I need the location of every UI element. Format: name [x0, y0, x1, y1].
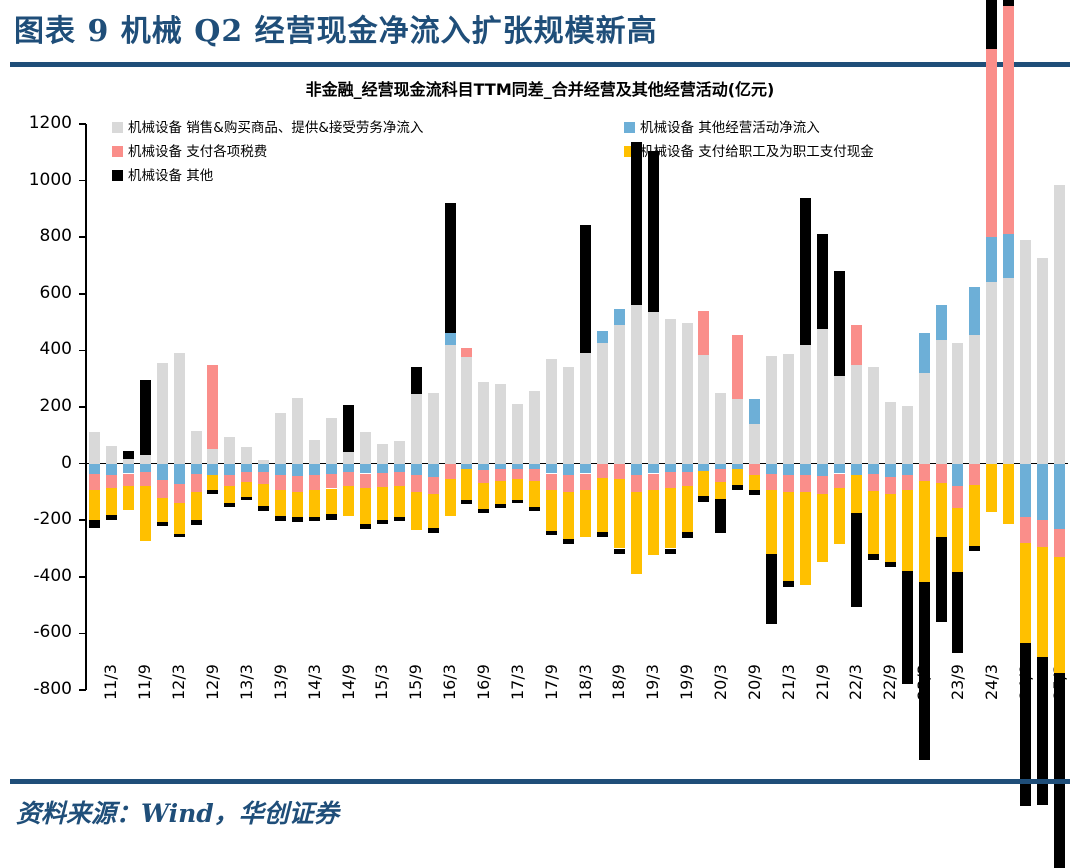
x-tick [823, 464, 824, 473]
bar-segment [648, 464, 659, 474]
bar-segment [766, 464, 777, 475]
bar-segment [1003, 464, 1014, 525]
bar-segment [783, 354, 794, 464]
bar-segment [732, 399, 743, 464]
bar-segment [936, 537, 947, 622]
x-axis-label: 23/9 [948, 664, 967, 700]
bar-segment [377, 473, 388, 487]
bar-segment [783, 581, 794, 587]
bar-segment [1037, 258, 1048, 464]
bar-segment [309, 517, 320, 522]
bar-segment [241, 464, 252, 472]
bar-segment [868, 491, 879, 555]
x-axis-label: 24/9 [1016, 664, 1035, 700]
x-tick [772, 464, 773, 473]
bar-segment [682, 464, 693, 472]
x-tick [111, 464, 112, 473]
x-axis-label: 24/3 [982, 664, 1001, 700]
x-axis-label: 23/3 [914, 664, 933, 700]
bar-segment [377, 444, 388, 463]
bar-segment [919, 464, 930, 482]
x-tick [467, 464, 468, 473]
bar-segment [885, 562, 896, 568]
bar-segment [969, 335, 980, 464]
footer-divider [10, 779, 1070, 784]
bar-segment [1020, 240, 1031, 464]
bar-segment [665, 549, 676, 554]
bar-segment [360, 464, 371, 474]
x-tick [755, 464, 756, 473]
x-axis-label: 15/3 [372, 664, 391, 700]
bar-segment [411, 475, 422, 491]
bar-segment [749, 424, 760, 464]
bar-segment [140, 472, 151, 486]
page-title: 图表 9 机械 Q2 经营现金净流入扩张规模新高 [14, 6, 658, 50]
y-tick [79, 633, 86, 635]
x-tick [162, 464, 163, 473]
bar-segment [275, 464, 286, 476]
x-tick [179, 464, 180, 473]
bar-segment [1020, 543, 1031, 643]
bar-segment [174, 464, 185, 484]
bar-segment [648, 312, 659, 463]
bar-segment [885, 464, 896, 478]
bar-segment [919, 582, 930, 760]
bar-segment [275, 490, 286, 516]
x-tick [1043, 464, 1044, 473]
y-axis-label: 200 [12, 396, 72, 416]
bar-segment [191, 431, 202, 464]
bar-segment [89, 432, 100, 464]
x-tick [365, 464, 366, 473]
x-tick [704, 464, 705, 473]
x-tick [569, 464, 570, 473]
y-axis-line [85, 124, 87, 690]
bar-segment [394, 441, 405, 464]
y-tick [79, 576, 86, 578]
bar-segment [936, 464, 947, 484]
x-tick [789, 464, 790, 473]
bar-segment [1020, 464, 1031, 518]
bar-segment [817, 464, 828, 477]
header-divider [10, 62, 1070, 67]
bar-segment [343, 452, 354, 463]
legend-swatch-wages [624, 146, 635, 157]
bar-segment [682, 323, 693, 464]
bar-segment [326, 514, 337, 520]
bar-segment [89, 464, 100, 475]
bar-segment [631, 464, 642, 475]
bar-segment [902, 571, 913, 684]
bar-segment [174, 484, 185, 503]
bar-segment [698, 471, 709, 496]
x-tick [873, 464, 874, 473]
bar-segment [986, 237, 997, 282]
x-tick [348, 464, 349, 473]
bar-segment [868, 464, 879, 475]
bar-segment [902, 475, 913, 491]
bar-segment [377, 520, 388, 524]
legend-item-other: 机械设备 其他 [112, 164, 213, 184]
bar-segment [851, 513, 862, 606]
bar-segment [902, 464, 913, 475]
x-tick [399, 464, 400, 473]
bar-segment [89, 520, 100, 527]
bar-segment [800, 492, 811, 585]
bar-segment [106, 446, 117, 464]
bar-segment [241, 497, 252, 500]
bar-segment [851, 464, 862, 475]
bar-segment [529, 481, 540, 506]
legend-item-taxes: 机械设备 支付各项税费 [112, 140, 267, 160]
x-tick [1060, 464, 1061, 473]
y-tick [79, 689, 86, 691]
legend-swatch-taxes [112, 146, 123, 157]
x-axis-label: 17/3 [508, 664, 527, 700]
bar-segment [445, 345, 456, 464]
bar-segment [1037, 520, 1048, 547]
bar-segment [478, 470, 489, 483]
bar-segment [461, 464, 472, 470]
x-axis-label: 21/3 [779, 664, 798, 700]
x-tick [450, 464, 451, 473]
bar-segment [292, 476, 303, 492]
legend-item-wages: 机械设备 支付给职工及为职工支付现金 [624, 140, 874, 160]
source-note: 资料来源：Wind，华创证券 [16, 794, 339, 830]
bar-segment [834, 488, 845, 545]
bar-segment [241, 447, 252, 464]
x-tick [416, 464, 417, 473]
bar-segment [665, 472, 676, 488]
bar-segment [428, 464, 439, 478]
x-tick [619, 464, 620, 473]
bar-segment [140, 486, 151, 541]
y-axis-label: -600 [12, 622, 72, 642]
legend-swatch-other [112, 170, 123, 181]
bar-segment [326, 489, 337, 514]
bar-segment [292, 398, 303, 464]
bar-segment [665, 319, 676, 464]
bar-segment [428, 393, 439, 464]
bar-segment [461, 469, 472, 500]
bar-segment [682, 472, 693, 486]
bar-segment [563, 367, 574, 463]
bar-segment [394, 486, 405, 517]
bar-segment [461, 348, 472, 358]
bar-segment [597, 464, 608, 479]
bar-segment [749, 490, 760, 494]
x-tick [721, 464, 722, 473]
bar-segment [597, 331, 608, 344]
bar-segment [834, 271, 845, 376]
y-axis-label: 1000 [12, 170, 72, 190]
bar-segment [631, 475, 642, 492]
bar-segment [783, 492, 794, 581]
bar-segment [936, 483, 947, 537]
x-axis-label: 17/9 [542, 664, 561, 700]
bar-segment [174, 503, 185, 534]
bar-segment [394, 517, 405, 522]
bar-segment [89, 474, 100, 490]
x-tick [145, 464, 146, 473]
bar-segment [563, 492, 574, 539]
bar-segment [461, 500, 472, 504]
bar-segment [597, 532, 608, 537]
x-axis-label: 13/9 [271, 664, 290, 700]
bar-segment [224, 503, 235, 507]
bar-segment [902, 490, 913, 571]
chart-title: 非金融_经营现金流科目TTM同差_合并经营及其他经营活动(亿元) [0, 76, 1080, 100]
bar-segment [546, 490, 557, 531]
bar-segment [461, 357, 472, 463]
bar-segment [428, 477, 439, 494]
bar-segment [360, 432, 371, 463]
bar-segment [580, 225, 591, 352]
bar-segment [207, 365, 218, 448]
bar-segment [157, 522, 168, 525]
bar-segment [800, 198, 811, 345]
bar-segment [563, 539, 574, 544]
bar-segment [834, 464, 845, 474]
bar-segment [224, 464, 235, 475]
bar-segment [478, 509, 489, 513]
bar-segment [309, 490, 320, 517]
y-axis-label: 400 [12, 339, 72, 359]
x-tick [975, 464, 976, 473]
bar-segment [377, 487, 388, 520]
y-tick [79, 350, 86, 352]
bar-segment [682, 486, 693, 533]
x-axis-label: 15/9 [406, 664, 425, 700]
x-tick [213, 464, 214, 473]
bar-segment [969, 287, 980, 335]
x-axis-label: 14/9 [339, 664, 358, 700]
bar-segment [529, 391, 540, 464]
x-axis-label: 22/9 [880, 664, 899, 700]
bar-segment [512, 469, 523, 480]
x-tick [602, 464, 603, 473]
bar-segment [546, 359, 557, 464]
bar-segment [986, 464, 997, 512]
bar-segment [563, 475, 574, 492]
bar-segment [631, 492, 642, 574]
bar-segment [885, 477, 896, 494]
bar-segment [529, 507, 540, 511]
x-tick [535, 464, 536, 473]
x-tick [1009, 464, 1010, 473]
legend-swatch-other_op [624, 122, 635, 133]
y-axis-label: -400 [12, 566, 72, 586]
bar-segment [732, 469, 743, 485]
bar-segment [495, 469, 506, 480]
x-axis-label: 21/9 [813, 664, 832, 700]
bar-segment [952, 464, 963, 486]
bar-segment [698, 355, 709, 464]
bar-segment [157, 498, 168, 523]
bar-segment [495, 481, 506, 504]
bar-segment [986, 282, 997, 463]
bar-segment [106, 488, 117, 515]
bar-segment [207, 475, 218, 491]
x-axis-label: 16/3 [440, 664, 459, 700]
bar-segment [648, 474, 659, 490]
bar-segment [800, 464, 811, 475]
x-axis-label: 11/9 [135, 664, 154, 700]
legend-swatch-sales [112, 122, 123, 133]
x-tick [839, 464, 840, 473]
x-tick [924, 464, 925, 473]
bar-segment [698, 464, 709, 471]
bar-segment [698, 311, 709, 355]
bar-segment [394, 464, 405, 472]
x-tick [552, 464, 553, 473]
x-axis-label: 12/3 [169, 664, 188, 700]
bar-segment [952, 572, 963, 653]
bar-segment [665, 464, 676, 472]
bar-segment [191, 492, 202, 520]
x-tick [230, 464, 231, 473]
bar-segment [580, 490, 591, 537]
bar-segment [800, 345, 811, 463]
bar-segment [952, 343, 963, 463]
bar-segment [140, 380, 151, 455]
y-tick [79, 236, 86, 238]
bar-segment [715, 464, 726, 470]
y-tick [79, 293, 86, 295]
x-axis-label: 25/3 [1050, 664, 1069, 700]
bar-segment [106, 464, 117, 475]
bar-segment [326, 464, 337, 475]
legend-item-other_op: 机械设备 其他经营活动净流入 [624, 116, 820, 136]
bar-segment [597, 343, 608, 463]
bar-segment [868, 367, 879, 463]
bar-segment [512, 464, 523, 469]
bar-segment [258, 464, 269, 472]
x-tick [196, 464, 197, 473]
x-axis-label: 11/3 [101, 664, 120, 700]
bar-segment [800, 475, 811, 492]
bar-segment [665, 488, 676, 549]
x-tick [382, 464, 383, 473]
bar-segment [224, 437, 235, 464]
bar-segment [478, 382, 489, 464]
bar-segment [732, 335, 743, 399]
bar-segment [783, 464, 794, 476]
bar-segment [732, 485, 743, 490]
bar-segment [512, 479, 523, 499]
bar-segment [969, 464, 980, 485]
bar-segment [275, 413, 286, 463]
x-axis-label: 13/3 [237, 664, 256, 700]
bar-segment [885, 494, 896, 561]
bar-segment [174, 534, 185, 537]
bar-segment [1054, 464, 1065, 529]
bar-segment [309, 440, 320, 464]
bar-segment [546, 474, 557, 490]
y-axis-label: 0 [12, 453, 72, 473]
x-tick [247, 464, 248, 473]
x-tick [992, 464, 993, 473]
legend-label-wages: 机械设备 支付给职工及为职工支付现金 [640, 140, 874, 160]
bar-segment [292, 464, 303, 477]
bar-segment [902, 406, 913, 464]
bar-segment [445, 479, 456, 516]
legend-label-sales: 机械设备 销售&购买商品、提供&接受劳务净流入 [128, 116, 423, 136]
bar-segment [478, 464, 489, 470]
bar-segment [411, 367, 422, 394]
x-axis-label: 18/9 [609, 664, 628, 700]
bar-segment [766, 474, 777, 490]
legend-label-other_op: 机械设备 其他经营活动净流入 [640, 116, 820, 136]
bar-segment [919, 333, 930, 373]
bar-segment [123, 486, 134, 510]
bar-segment [106, 515, 117, 520]
x-tick [501, 464, 502, 473]
x-tick [94, 464, 95, 473]
bar-segment [512, 404, 523, 463]
bar-segment [89, 490, 100, 521]
x-tick [585, 464, 586, 473]
x-tick [806, 464, 807, 473]
bar-segment [580, 474, 591, 490]
bar-segment [495, 384, 506, 463]
bar-segment [512, 500, 523, 503]
bar-segment [546, 464, 557, 474]
bar-segment [495, 464, 506, 470]
bar-segment [292, 517, 303, 523]
x-tick [941, 464, 942, 473]
bar-segment [817, 494, 828, 562]
bar-segment [1054, 557, 1065, 673]
bar-segment [614, 549, 625, 554]
bar-segment [140, 464, 151, 472]
bar-segment [597, 478, 608, 532]
x-axis-label: 20/9 [745, 664, 764, 700]
bar-segment [936, 305, 947, 340]
bar-segment [648, 490, 659, 555]
bar-segment [749, 464, 760, 475]
bar-segment [1003, 234, 1014, 278]
bar-segment [207, 449, 218, 464]
bar-segment [715, 499, 726, 533]
x-tick [128, 464, 129, 473]
bar-segment [309, 464, 320, 475]
bar-segment [343, 486, 354, 517]
bar-segment [766, 490, 777, 554]
bar-segment [563, 464, 574, 475]
bar-segment [275, 516, 286, 521]
bar-segment [1037, 547, 1048, 657]
bar-segment [834, 474, 845, 488]
bar-segment [258, 506, 269, 511]
bar-segment [546, 531, 557, 535]
bar-segment [309, 475, 320, 490]
bar-segment [445, 464, 456, 480]
y-axis-label: 800 [12, 226, 72, 246]
x-tick [484, 464, 485, 473]
bar-segment [326, 474, 337, 488]
bar-segment [207, 490, 218, 493]
bar-segment [885, 402, 896, 463]
bar-segment [123, 459, 134, 464]
bar-segment [123, 464, 134, 474]
x-tick [907, 464, 908, 473]
x-tick [315, 464, 316, 473]
x-tick [653, 464, 654, 473]
bar-segment [360, 474, 371, 489]
y-axis-label: 600 [12, 283, 72, 303]
bar-segment [224, 486, 235, 502]
